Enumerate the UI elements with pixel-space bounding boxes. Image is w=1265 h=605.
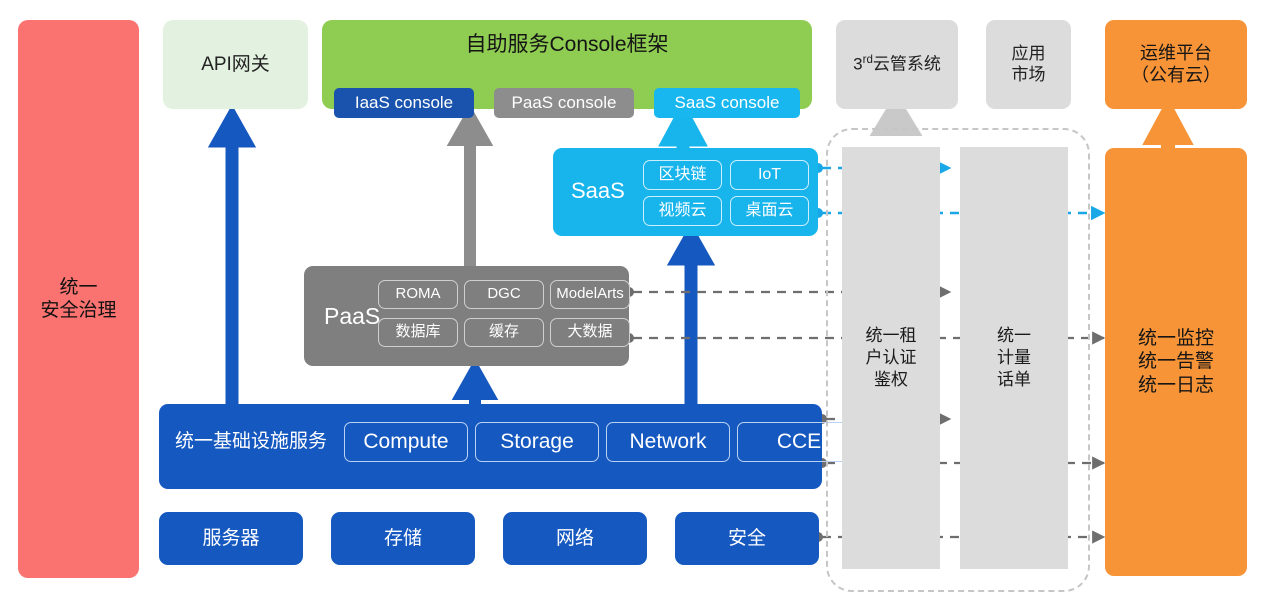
saas-chip-iot[interactable]: IoT [730,160,809,190]
hardware-security[interactable]: 安全 [675,512,819,565]
monitoring-pillar: 统一监控 统一告警 统一日志 [1105,148,1247,576]
shared-auth-column[interactable]: 统一租 户认证 鉴权 [842,147,940,569]
console-framework: 自助服务Console框架 IaaS console PaaS console … [322,20,812,109]
infrastructure-layer-label: 统一基础设施服务 [175,430,327,453]
app-market-box[interactable]: 应用 市场 [986,20,1071,109]
saas-console-chip[interactable]: SaaS console [654,88,800,118]
saas-chip-desktop-cloud[interactable]: 桌面云 [730,196,809,226]
arrow-ops-uplink [1154,112,1182,148]
paas-chip-modelarts[interactable]: ModelArts [550,280,630,309]
paas-chip-database[interactable]: 数据库 [378,318,458,347]
saas-chip-video-cloud[interactable]: 视频云 [643,196,722,226]
arrow-infra-to-paas [462,371,488,404]
hardware-server[interactable]: 服务器 [159,512,303,565]
shared-billing-column[interactable]: 统一 计量 话单 [960,147,1068,569]
paas-console-chip[interactable]: PaaS console [494,88,634,118]
infra-chip-network[interactable]: Network [606,422,730,462]
infrastructure-layer: 统一基础设施服务 Compute Storage Network CCE [159,404,822,489]
saas-chip-blockchain[interactable]: 区块链 [643,160,722,190]
hardware-storage[interactable]: 存储 [331,512,475,565]
architecture-diagram: 统一 安全治理 API网关 自助服务Console框架 IaaS console… [0,0,1265,605]
saas-layer-label: SaaS [571,178,625,205]
iaas-console-chip[interactable]: IaaS console [334,88,474,118]
api-gateway-box[interactable]: API网关 [163,20,308,109]
paas-layer-label: PaaS [324,302,380,330]
infra-chip-storage[interactable]: Storage [475,422,599,462]
saas-layer: SaaS 区块链 IoT 视频云 桌面云 [553,148,818,236]
arrow-saas-to-console [669,114,697,148]
paas-chip-dgc[interactable]: DGC [464,280,544,309]
security-pillar: 统一 安全治理 [18,20,139,578]
third-party-cloud-label: 3rd云管系统 [853,53,941,75]
hardware-network[interactable]: 网络 [503,512,647,565]
ops-platform-box[interactable]: 运维平台 （公有云） [1105,20,1247,109]
paas-chip-cache[interactable]: 缓存 [464,318,544,347]
arrow-infra-to-saas [678,236,704,404]
console-framework-title: 自助服务Console框架 [322,32,812,58]
paas-layer: PaaS ROMA DGC ModelArts 数据库 缓存 大数据 [304,266,629,366]
arrow-infra-to-apigw [219,118,245,404]
arrow-paas-to-console [457,117,483,266]
third-party-cloud-box[interactable]: 3rd云管系统 [836,20,958,109]
paas-chip-roma[interactable]: ROMA [378,280,458,309]
infra-chip-compute[interactable]: Compute [344,422,468,462]
paas-chip-bigdata[interactable]: 大数据 [550,318,630,347]
